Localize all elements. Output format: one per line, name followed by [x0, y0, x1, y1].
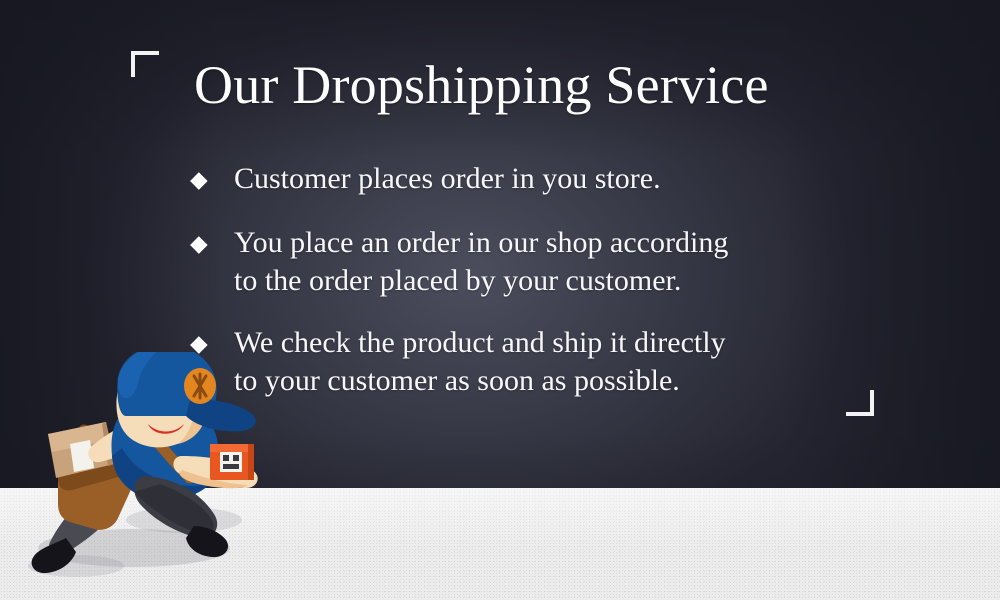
bullet-line: to the order placed by your customer.: [234, 262, 868, 300]
diamond-bullet-icon: ◆: [188, 224, 234, 264]
page-title: Our Dropshipping Service: [194, 56, 769, 114]
bullet-line: We check the product and ship it directl…: [234, 324, 868, 362]
red-parcel-in-hand: [210, 444, 254, 480]
bullet-line: Customer places order in you store.: [234, 160, 868, 198]
bullet-line: You place an order in our shop according: [234, 224, 868, 262]
list-item: ◆ We check the product and ship it direc…: [188, 324, 868, 400]
diamond-bullet-icon: ◆: [188, 324, 234, 364]
diamond-bullet-icon: ◆: [188, 160, 234, 200]
list-item: ◆ Customer places order in you store.: [188, 160, 868, 200]
corner-bracket-top-left: [131, 51, 159, 77]
bullet-line: to your customer as soon as possible.: [234, 362, 868, 400]
bullet-text: We check the product and ship it directl…: [234, 324, 868, 400]
bullet-text: You place an order in our shop according…: [234, 224, 868, 300]
slide-canvas: Our Dropshipping Service ◆ Customer plac…: [0, 0, 1000, 600]
bracket-vertical-bar: [870, 390, 874, 416]
bullet-text: Customer places order in you store.: [234, 160, 868, 198]
bracket-horizontal-bar: [131, 51, 159, 55]
list-item: ◆ You place an order in our shop accordi…: [188, 224, 868, 300]
bullet-list: ◆ Customer places order in you store. ◆ …: [188, 160, 868, 424]
bracket-vertical-bar: [131, 51, 135, 77]
